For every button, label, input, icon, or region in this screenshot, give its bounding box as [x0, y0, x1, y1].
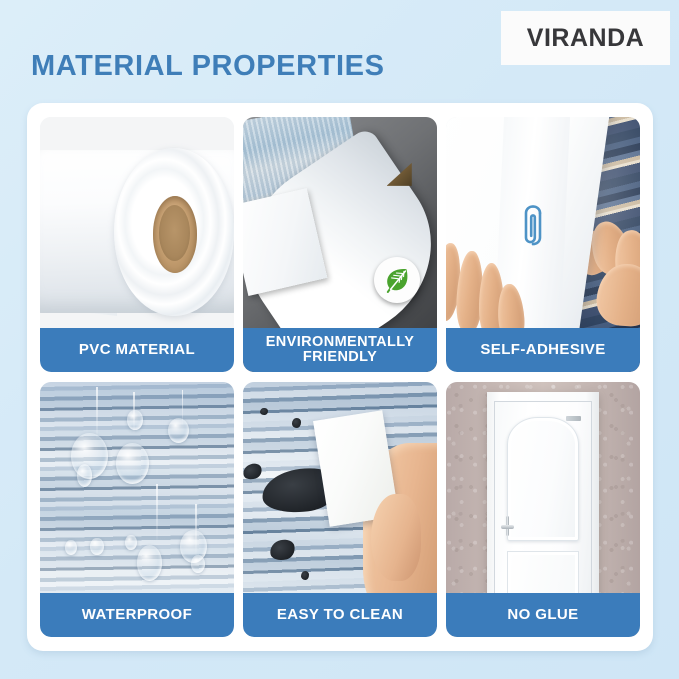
door-panel-upper [507, 417, 579, 540]
door-leaf [494, 401, 592, 607]
feature-tile-environmentally-friendly[interactable]: ENVIRONMENTALLY FRIENDLY [243, 117, 437, 372]
brand-logo-box: VIRANDA [501, 11, 670, 65]
door-handle [501, 516, 514, 537]
header: VIRANDA MATERIAL PROPERTIES [0, 0, 679, 103]
water-droplet [77, 464, 93, 487]
water-droplet [127, 410, 143, 430]
feature-tile-pvc-material[interactable]: PVC MATERIAL [40, 117, 234, 372]
feature-label-waterproof: WATERPROOF [40, 593, 234, 637]
water-droplet [116, 443, 149, 484]
door-frame [487, 392, 600, 606]
feature-label-easy-to-clean: EASY TO CLEAN [243, 593, 437, 637]
features-grid: PVC MATERIAL [40, 117, 640, 637]
feature-tile-waterproof[interactable]: WATERPROOF [40, 382, 234, 637]
stain-mark [292, 418, 302, 428]
thumb [371, 494, 421, 581]
water-droplet [191, 555, 205, 573]
feature-label-self-adhesive: SELF-ADHESIVE [446, 328, 640, 372]
left-hand [446, 237, 520, 339]
feature-label-no-glue: NO GLUE [446, 593, 640, 637]
features-card: PVC MATERIAL [27, 103, 653, 651]
page-title: MATERIAL PROPERTIES [31, 50, 385, 83]
paperclip-icon [516, 201, 550, 251]
eco-badge [374, 257, 420, 303]
water-droplet [137, 545, 162, 581]
water-droplet [65, 540, 77, 555]
feature-tile-no-glue[interactable]: NO GLUE [446, 382, 640, 637]
feature-label-pvc-material: PVC MATERIAL [40, 328, 234, 372]
infographic-page: VIRANDA MATERIAL PROPERTIES PVC MATERIAL [0, 0, 679, 679]
leaf-icon [382, 265, 412, 295]
feature-tile-easy-to-clean[interactable]: EASY TO CLEAN [243, 382, 437, 637]
door-top-trim [566, 416, 582, 421]
feature-label-environmentally-friendly: ENVIRONMENTALLY FRIENDLY [243, 328, 437, 372]
brand-name: VIRANDA [527, 24, 644, 53]
feature-tile-self-adhesive[interactable]: SELF-ADHESIVE [446, 117, 640, 372]
stain-mark [301, 571, 309, 580]
